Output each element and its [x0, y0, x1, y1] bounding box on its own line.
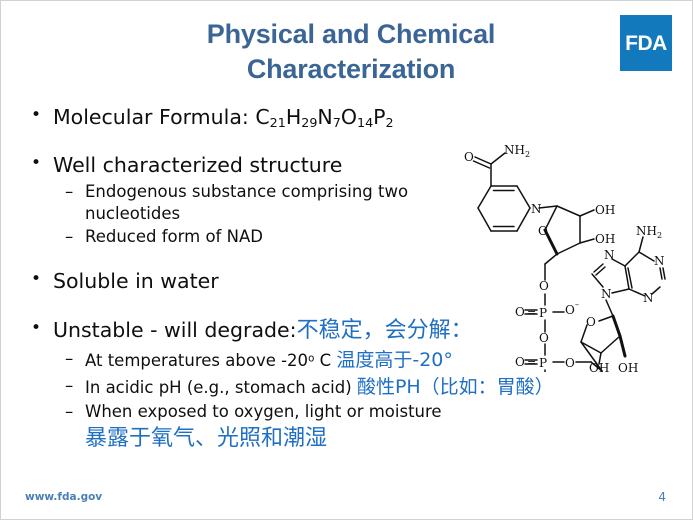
bullet-marker-icon: • [31, 318, 41, 338]
exposure-label-en: When exposed to oxygen, light or moistur… [85, 402, 442, 421]
bullet-soluble-in-water: • Soluble in water [23, 269, 663, 293]
exposure-label-zh-wrap: 暴露于氧气、光照和潮湿 [23, 425, 663, 454]
bond-ade-2b [663, 268, 665, 279]
endogenous-line2-wrap: nucleotides [23, 204, 663, 224]
formula-H: H [286, 105, 301, 129]
formula-P-sub: 2 [386, 115, 394, 130]
sub-bullet-exposure: – When exposed to oxygen, light or moist… [23, 402, 663, 422]
formula-H-sub: 29 [301, 115, 317, 130]
bullet-marker-icon: • [31, 105, 41, 125]
exposure-label-zh: 暴露于氧气、光照和潮湿 [85, 426, 327, 451]
endogenous-line2: nucleotides [85, 204, 180, 223]
bullet-unstable: • Unstable - will degrade:不稳定，会分解： [23, 318, 663, 344]
bullet-marker-icon: • [31, 153, 41, 173]
unstable-label-en: Unstable - will degrade: [53, 318, 297, 342]
temperature-label-en-b: C [314, 351, 331, 370]
bullet-marker-icon: • [31, 269, 41, 289]
slide-body: • Molecular Formula: C21H29N7O14P2 • Wel… [23, 105, 663, 454]
footer-url[interactable]: www.fda.gov [25, 491, 102, 503]
bullet-molecular-formula: • Molecular Formula: C21H29N7O14P2 [23, 105, 663, 130]
sub-bullet-acidic-ph: – In acidic pH (e.g., stomach acid) 酸性PH… [23, 376, 663, 399]
slide-canvas: FDA Physical and Chemical Characterizati… [0, 0, 693, 520]
spacer [23, 135, 663, 153]
fda-logo: FDA [620, 15, 672, 71]
dash-marker-icon: – [65, 182, 73, 202]
unstable-label-zh: 不稳定，会分解： [297, 318, 473, 343]
acidic-ph-label-zh: 酸性PH（比如：胃酸） [357, 376, 554, 398]
page-number: 4 [658, 490, 666, 504]
temperature-label-en-a: At temperatures above -20 [85, 351, 308, 370]
page-title-line1: Physical and Chemical [111, 17, 591, 52]
spacer [23, 298, 663, 318]
molecular-formula-label: Molecular Formula: [53, 105, 255, 129]
endogenous-line1: Endogenous substance comprising two [85, 182, 408, 201]
reduced-nad-label: Reduced form of NAD [85, 227, 263, 246]
sub-bullet-reduced-nad: – Reduced form of NAD [23, 227, 663, 247]
bullet-well-characterized: • Well characterized structure [23, 153, 663, 177]
formula-O-sub: 14 [357, 115, 373, 130]
formula-O: O [341, 105, 357, 129]
sub-bullet-endogenous: – Endogenous substance comprising two [23, 182, 663, 202]
dash-marker-icon: – [65, 349, 73, 369]
dash-marker-icon: – [65, 402, 73, 422]
temperature-label-zh: 温度高于-20° [336, 349, 453, 371]
formula-C: C [255, 105, 269, 129]
soluble-label: Soluble in water [53, 269, 219, 293]
spacer [23, 249, 663, 269]
formula-P: P [373, 105, 385, 129]
well-characterized-label: Well characterized structure [53, 153, 342, 177]
page-title-line2: Characterization [111, 52, 591, 87]
formula-N: N [317, 105, 332, 129]
formula-C-sub: 21 [270, 115, 286, 130]
sub-bullet-temperature: – At temperatures above -20o C 温度高于-20° [23, 349, 663, 372]
dash-marker-icon: – [65, 227, 73, 247]
dash-marker-icon: – [65, 376, 73, 396]
page-title: Physical and Chemical Characterization [111, 17, 591, 86]
fda-logo-text: FDA [625, 33, 667, 54]
acidic-ph-label-en: In acidic pH (e.g., stomach acid) [85, 378, 352, 397]
formula-N-sub: 7 [333, 115, 341, 130]
